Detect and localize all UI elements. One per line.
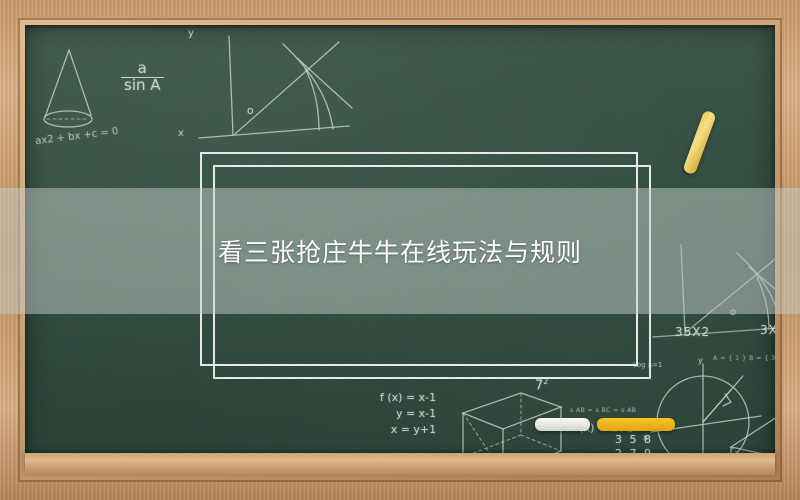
fraction-denominator: sin A [121,78,164,94]
axis-label-x-topleft: x [178,128,184,139]
seven-squared: 72 [535,377,548,393]
yellow-chalk-icon [597,418,675,431]
fraction-a-over-sinA-topleft: a sin A [121,61,164,94]
page-title-text: 看三张抢庄牛牛在线玩法与规则 [218,233,582,269]
yellow-chalk-stick-icon [682,110,716,176]
formula-x: x = y+1 [380,422,436,438]
division-row-1: 3 5 8 [615,433,653,447]
label-3x2: 3X2 [760,323,775,337]
white-chalk-icon [535,418,590,431]
axis-label-y-right: y [698,356,703,365]
label-35x2: 35X2 [675,325,710,339]
micro-equation-label: s AB = s BC = s AB [570,407,636,414]
blackboard-thumbnail: a sin A ax2 + bx +c = 0 y x o [0,0,800,500]
formula-y: y = x-1 [380,406,436,422]
angle-label-topleft: o [247,104,254,117]
angle-diagram-topleft [177,30,357,164]
page-title: 看三张抢庄牛牛在线玩法与规则 [0,188,800,314]
formula-fx: f (x) = x-1 [380,390,436,406]
axis-label-y-topleft: y [188,28,194,39]
chalk-ledge [25,453,775,475]
function-formula-block: f (x) = x-1 y = x-1 x = y+1 [380,390,436,438]
